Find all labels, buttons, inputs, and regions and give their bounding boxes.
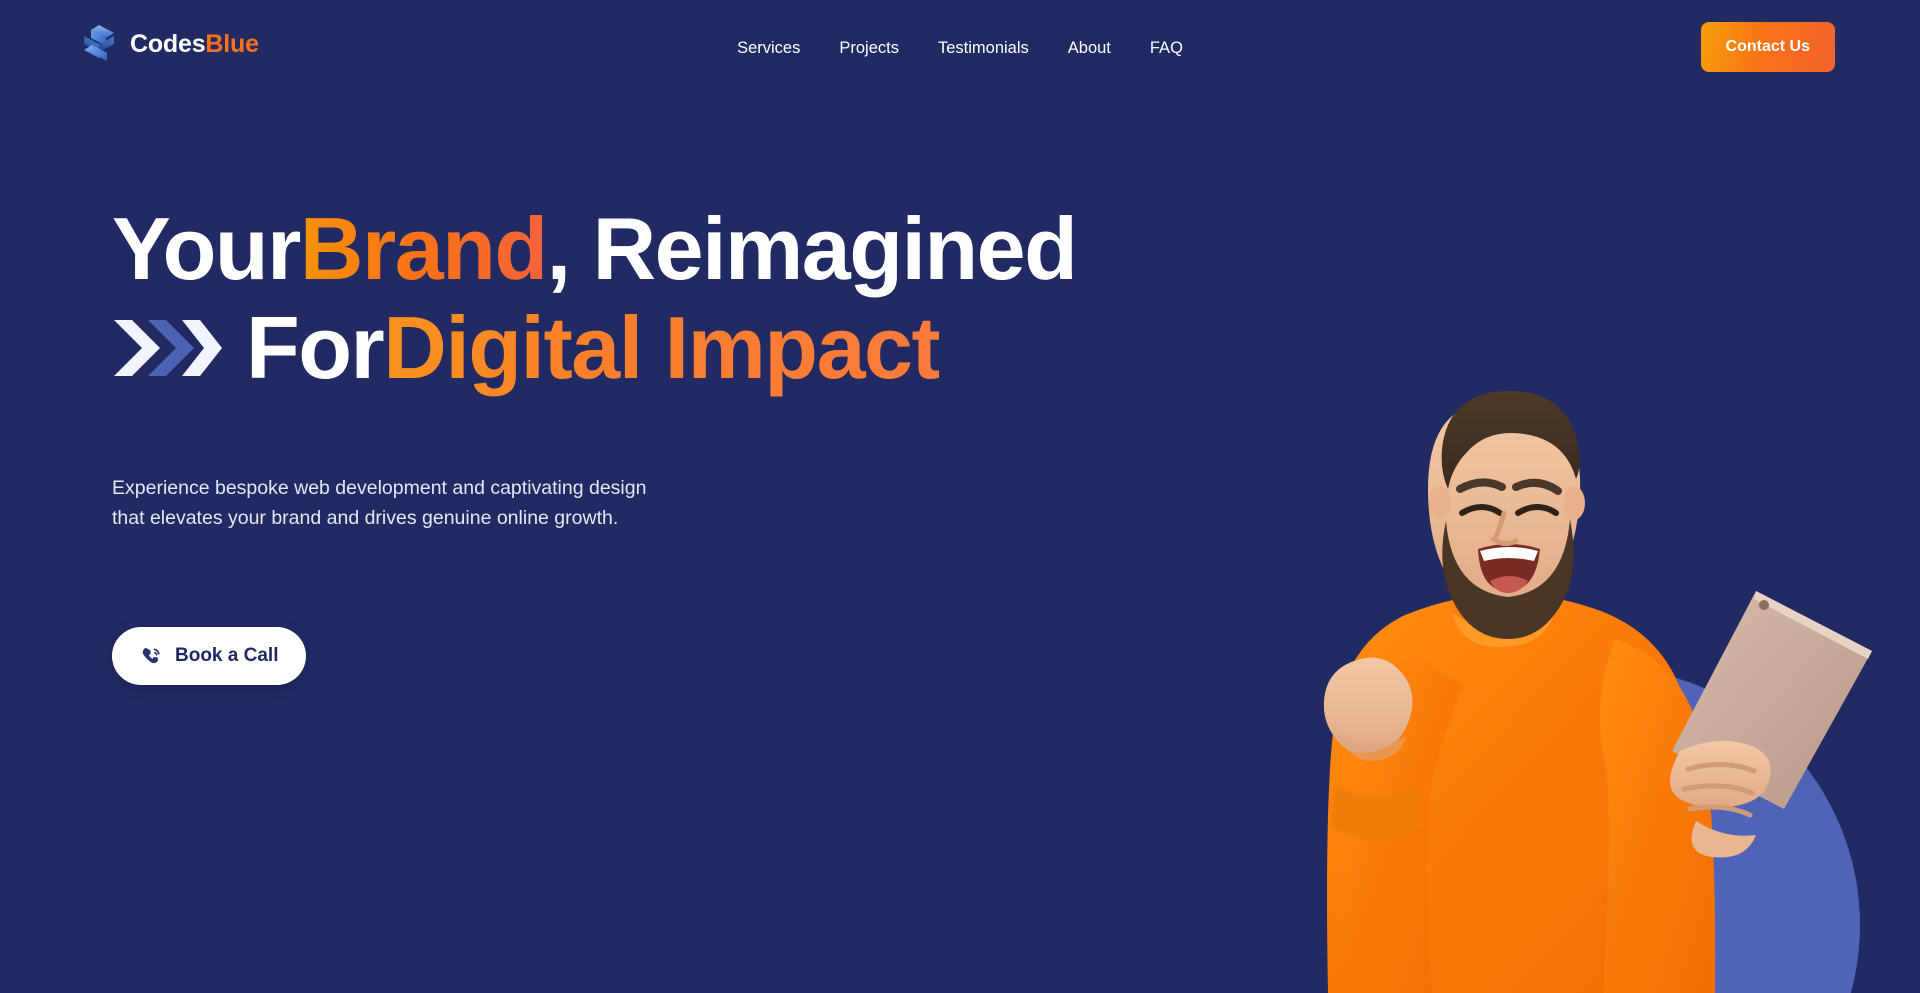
hero-copy: Your Brand, Reimagined For Digital Impac…: [112, 200, 1232, 397]
headline-text-your: Your: [112, 200, 300, 299]
decorative-blue-circle: [1344, 667, 1860, 993]
nav-item-about[interactable]: About: [1068, 40, 1111, 57]
main-navigation: Services Projects Testimonials About FAQ: [0, 0, 1920, 96]
hero-section: Your Brand, Reimagined For Digital Impac…: [0, 0, 1920, 993]
headline-text-for: For: [246, 299, 383, 398]
nav-item-projects[interactable]: Projects: [839, 40, 899, 57]
headline-text-reimagined: , Reimagined: [547, 200, 1077, 299]
book-a-call-button[interactable]: Book a Call: [112, 627, 306, 685]
hero-headline-line-2: For Digital Impact: [112, 299, 1232, 398]
nav-item-testimonials[interactable]: Testimonials: [938, 40, 1029, 57]
hero-illustration: [1160, 353, 1920, 993]
hero-photo-man-with-tablet: [1160, 353, 1920, 993]
book-a-call-label: Book a Call: [175, 645, 278, 667]
hero-headline: Your Brand, Reimagined For Digital Impac…: [112, 200, 1232, 397]
site-header: CodesBlue Services Projects Testimonials…: [0, 0, 1920, 96]
contact-us-button[interactable]: Contact Us: [1701, 22, 1835, 72]
phone-call-icon: [140, 645, 163, 668]
nav-item-faq[interactable]: FAQ: [1150, 40, 1183, 57]
nav-item-services[interactable]: Services: [737, 40, 800, 57]
hero-subcopy: Experience bespoke web development and c…: [112, 474, 652, 533]
headline-text-brand: Brand: [300, 200, 547, 299]
hero-headline-line-1: Your Brand, Reimagined: [112, 200, 1232, 299]
headline-text-digital-impact: Digital Impact: [383, 299, 939, 398]
triple-chevron-right-icon: [112, 312, 224, 384]
